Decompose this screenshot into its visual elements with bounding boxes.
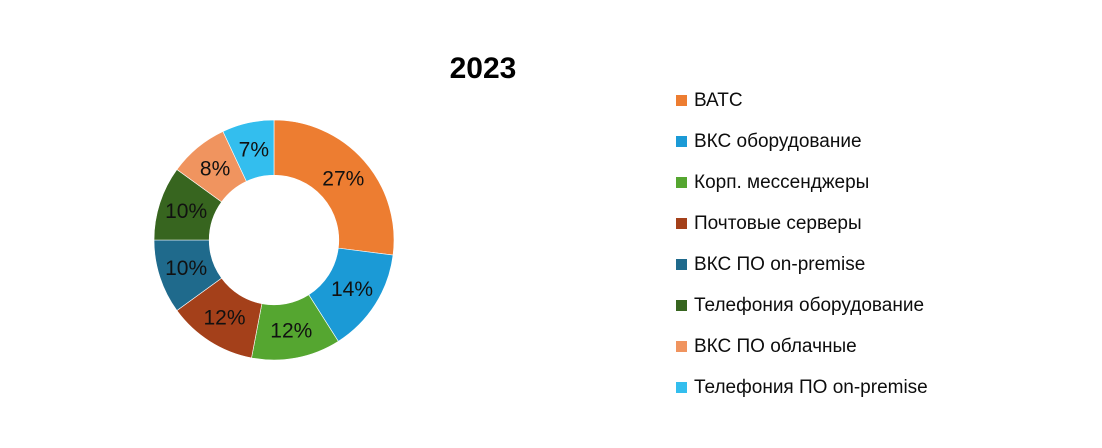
slice-value-label: 27%: [322, 167, 364, 190]
slice-value-label: 12%: [270, 319, 312, 342]
slice-value-label: 14%: [331, 278, 373, 301]
legend-item-label: Телефония оборудование: [694, 295, 924, 317]
legend-color-swatch-icon: [676, 136, 687, 147]
legend-item-label: Корп. мессенджеры: [694, 172, 869, 194]
legend-item[interactable]: Телефония ПО on-premise: [676, 367, 1076, 408]
legend-item-label: ВАТС: [694, 90, 743, 112]
slice-value-label: 7%: [239, 138, 269, 161]
legend-item[interactable]: Телефония оборудование: [676, 285, 1076, 326]
legend-item[interactable]: Почтовые серверы: [676, 203, 1076, 244]
slice-value-label: 12%: [203, 307, 245, 330]
legend-color-swatch-icon: [676, 300, 687, 311]
donut-svg: 27%14%12%12%10%10%8%7%: [154, 120, 394, 360]
donut-chart-figure: 2023 27%14%12%12%10%10%8%7% ВАТСВКС обор…: [0, 0, 1102, 448]
legend-item[interactable]: ВКС оборудование: [676, 121, 1076, 162]
legend-item-label: ВКС оборудование: [694, 131, 862, 153]
legend-item-label: ВКС ПО облачные: [694, 336, 857, 358]
slice-value-label: 10%: [165, 200, 207, 223]
legend-color-swatch-icon: [676, 218, 687, 229]
slice-value-label: 10%: [165, 257, 207, 280]
legend-item[interactable]: ВКС ПО on-premise: [676, 244, 1076, 285]
legend-color-swatch-icon: [676, 259, 687, 270]
legend-color-swatch-icon: [676, 95, 687, 106]
legend-item[interactable]: ВКС ПО облачные: [676, 326, 1076, 367]
chart-title: 2023: [408, 51, 558, 87]
legend-color-swatch-icon: [676, 382, 687, 393]
legend-color-swatch-icon: [676, 341, 687, 352]
chart-legend: ВАТСВКС оборудованиеКорп. мессенджерыПоч…: [676, 80, 1076, 408]
slice-value-label: 8%: [200, 157, 230, 180]
legend-item-label: Почтовые серверы: [694, 213, 862, 235]
legend-item[interactable]: Корп. мессенджеры: [676, 162, 1076, 203]
donut-plot-area: 27%14%12%12%10%10%8%7%: [154, 120, 394, 360]
legend-item-label: Телефония ПО on-premise: [694, 377, 928, 399]
legend-color-swatch-icon: [676, 177, 687, 188]
legend-item-label: ВКС ПО on-premise: [694, 254, 865, 276]
legend-item[interactable]: ВАТС: [676, 80, 1076, 121]
